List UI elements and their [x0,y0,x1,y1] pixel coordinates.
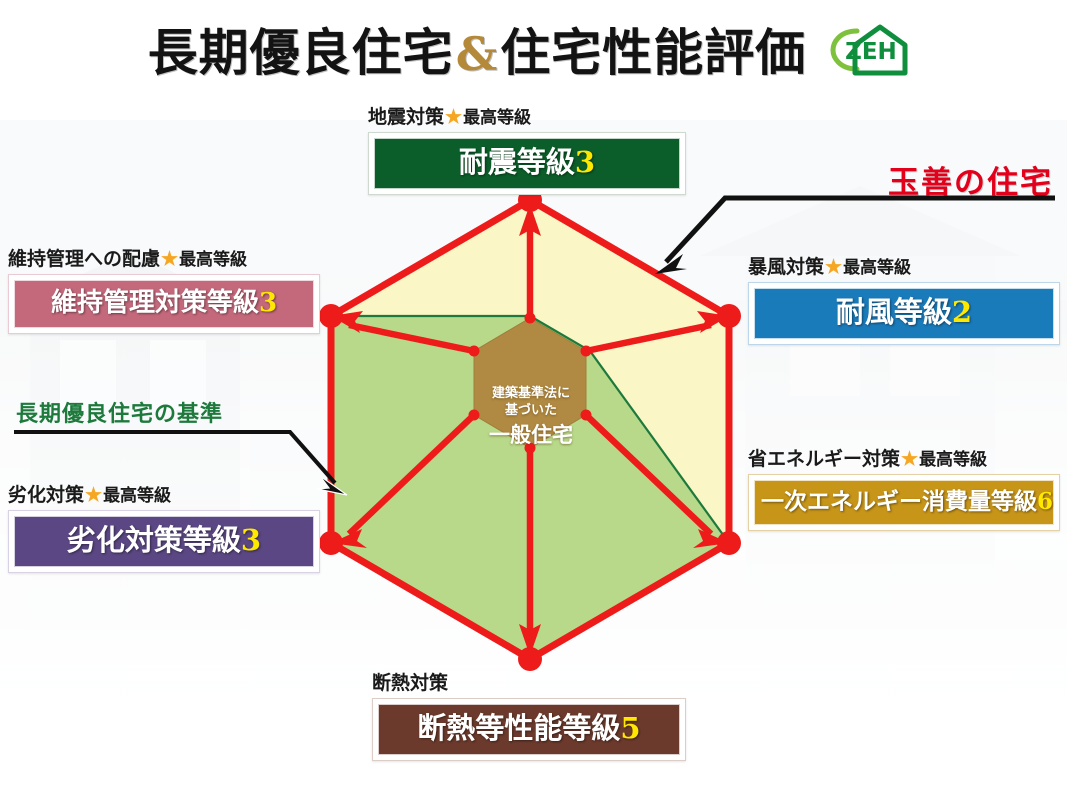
zeh-logo: ZEH [823,19,919,81]
card-degradation-bar-text: 劣化対策等級 [67,523,241,557]
card-degradation-frame: 劣化対策等級3 [8,510,320,573]
card-insulation-frame: 断熱等性能等級5 [372,698,686,761]
card-wind-frame: 耐風等級2 [748,282,1060,345]
card-energy-bar: 一次エネルギー消費量等級6 [754,480,1054,525]
card-energy-caption-grade: 最高等級 [919,450,987,470]
card-energy-caption: 省エネルギー対策★最高等級 [748,448,1060,471]
star-icon: ★ [160,248,179,270]
page-title: 長期優良住宅&住宅性能評価 ZEH [0,22,1067,92]
vertex-inner-upper-right [581,346,592,357]
vertex-inner-top [525,313,536,324]
vertex-outer-lower-left [319,531,343,555]
card-earthquake-caption: 地震対策★最高等級 [368,106,686,129]
card-maintenance-bar: 維持管理対策等級3 [14,280,314,328]
card-insulation-bar-num: 5 [620,711,640,745]
star-icon [448,672,450,694]
card-insulation-bar-text: 断熱等性能等級 [417,711,620,745]
vertex-outer-upper-left [319,304,343,328]
vertex-inner-lower-left [469,410,480,421]
card-energy-frame: 一次エネルギー消費量等級6 [748,474,1060,531]
card-degradation-bar: 劣化対策等級3 [14,516,314,567]
card-maintenance-frame: 維持管理対策等級3 [8,274,320,334]
card-degradation-caption-label: 劣化対策 [8,484,84,506]
callout-label-tamazen: 玉善の住宅 [888,157,1053,202]
card-degradation-bar-num: 3 [241,523,261,557]
card-insulation[interactable]: 断熱対策 断熱等性能等級5 [372,672,686,761]
card-degradation-caption-grade: 最高等級 [103,486,171,506]
vertex-outer-lower-right [717,531,741,555]
card-degradation-caption: 劣化対策★最高等級 [8,484,320,507]
star-icon: ★ [84,484,103,506]
card-insulation-bar: 断熱等性能等級5 [378,704,680,755]
card-wind[interactable]: 暴風対策★最高等級 耐風等級2 [748,256,1060,345]
card-degradation[interactable]: 劣化対策★最高等級 劣化対策等級3 [8,484,320,573]
page-title-text: 長期優良住宅&住宅性能評価 [148,22,807,85]
vertex-inner-upper-left [469,346,480,357]
card-wind-caption-grade: 最高等級 [843,258,911,278]
card-earthquake-bar: 耐震等級3 [374,138,680,189]
radar-chart [270,170,800,700]
card-wind-bar-text: 耐風等級 [836,295,952,329]
card-energy-bar-num: 6 [1037,488,1053,515]
card-earthquake-bar-num: 3 [575,145,595,179]
callout-label-choki: 長期優良住宅の基準 [16,396,223,428]
card-energy[interactable]: 省エネルギー対策★最高等級 一次エネルギー消費量等級6 [748,448,1060,531]
card-energy-bar-text: 一次エネルギー消費量等級 [761,488,1037,515]
card-maintenance-bar-text: 維持管理対策等級 [51,288,259,318]
card-wind-caption: 暴風対策★最高等級 [748,256,1060,279]
card-wind-caption-label: 暴風対策 [748,256,824,278]
star-icon: ★ [824,256,843,278]
card-insulation-caption: 断熱対策 [372,672,686,695]
card-earthquake[interactable]: 地震対策★最高等級 耐震等級3 [368,106,686,195]
card-maintenance-caption-grade: 最高等級 [179,250,247,270]
title-ampersand: & [454,27,501,81]
card-earthquake-caption-grade: 最高等級 [463,108,531,128]
card-earthquake-bar-text: 耐震等級 [459,145,575,179]
card-earthquake-frame: 耐震等級3 [368,132,686,195]
card-wind-bar: 耐風等級2 [754,288,1054,339]
vertex-outer-bottom [518,647,542,671]
star-icon: ★ [900,448,919,470]
title-part-1: 長期優良住宅 [148,23,454,82]
card-maintenance-bar-num: 3 [259,288,277,318]
card-earthquake-caption-label: 地震対策 [368,106,444,128]
card-maintenance-caption: 維持管理への配慮★最高等級 [8,248,320,271]
card-wind-bar-num: 2 [952,295,972,329]
zeh-logo-label: ZEH [845,39,897,65]
zeh-logo-svg: ZEH [823,19,919,81]
card-insulation-caption-label: 断熱対策 [372,672,448,694]
card-maintenance[interactable]: 維持管理への配慮★最高等級 維持管理対策等級3 [8,248,320,334]
card-maintenance-caption-label: 維持管理への配慮 [8,248,160,270]
star-icon: ★ [444,106,463,128]
vertex-inner-lower-right [581,410,592,421]
card-energy-caption-label: 省エネルギー対策 [748,448,900,470]
radar-chart-svg [270,170,800,700]
vertex-inner-bottom [525,443,536,454]
title-part-2: 住宅性能評価 [500,23,806,82]
vertex-outer-upper-right [717,304,741,328]
infographic-root: 長期優良住宅&住宅性能評価 ZEH [0,0,1067,800]
